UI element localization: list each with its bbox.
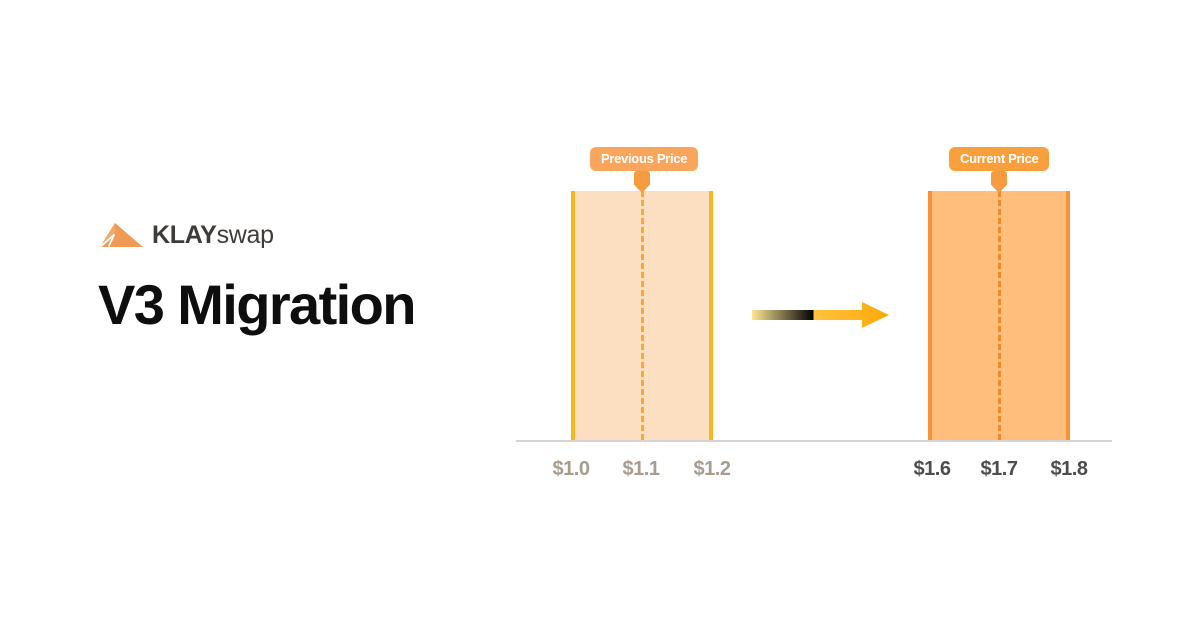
current-price-marker-line	[998, 191, 1001, 440]
tick-label-previous-mid: $1.1	[623, 458, 660, 481]
klayswap-triangle-logo-icon	[98, 222, 144, 248]
logo-lockup: KLAYswap	[98, 218, 518, 252]
previous-price-marker-tag-icon	[634, 171, 650, 193]
tick-label-current-mid: $1.7	[981, 458, 1018, 481]
right-arrow-icon	[752, 302, 889, 328]
wordmark-light: swap	[217, 221, 274, 249]
current-price-marker-tag-icon	[991, 171, 1007, 193]
current-price-badge: Current Price	[949, 147, 1049, 171]
tick-label-previous-high: $1.2	[694, 458, 731, 481]
previous-price-badge: Previous Price	[590, 147, 698, 171]
page-title: V3 Migration	[98, 276, 518, 335]
branding-block: KLAYswap V3 Migration	[98, 218, 518, 335]
previous-price-marker-line	[641, 191, 644, 440]
tick-label-current-low: $1.6	[914, 458, 951, 481]
chart-baseline-axis	[516, 440, 1112, 442]
tick-label-previous-low: $1.0	[553, 458, 590, 481]
wordmark: KLAYswap	[152, 223, 274, 248]
tick-label-current-high: $1.8	[1051, 458, 1088, 481]
wordmark-bold: KLAY	[152, 221, 217, 249]
